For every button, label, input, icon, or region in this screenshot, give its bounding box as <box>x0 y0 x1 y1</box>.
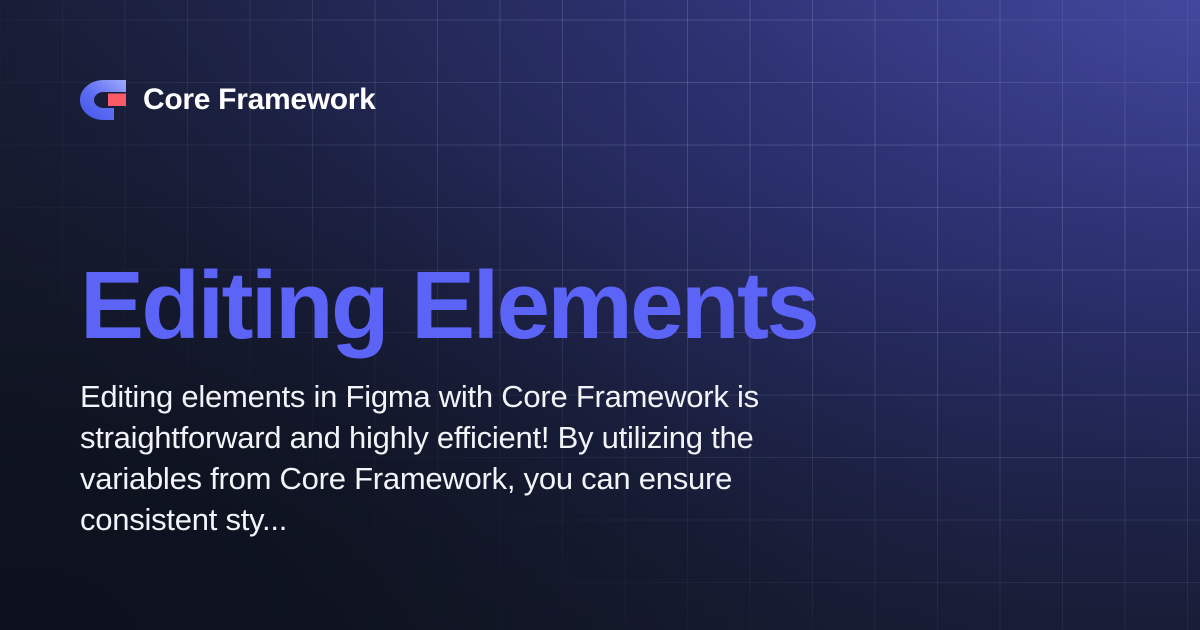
core-framework-logo-icon <box>80 80 126 120</box>
hero-text-block: Editing Elements Editing elements in Fig… <box>80 258 880 540</box>
brand-lockup: Core Framework <box>80 80 376 120</box>
card-content: Core Framework Editing Elements Editing … <box>0 0 1200 630</box>
page-description: Editing elements in Figma with Core Fram… <box>80 376 855 540</box>
share-card-canvas: Core Framework Editing Elements Editing … <box>0 0 1200 630</box>
brand-name-label: Core Framework <box>143 85 376 115</box>
page-title: Editing Elements <box>80 258 880 354</box>
